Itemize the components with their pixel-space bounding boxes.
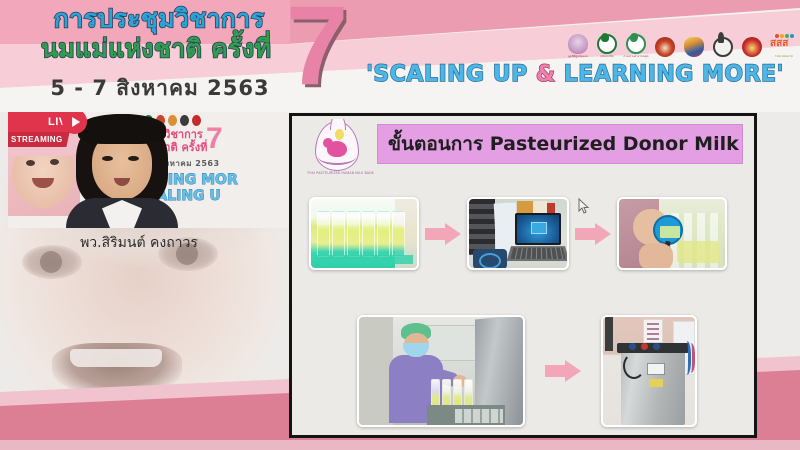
conference-title-line1: การประชุมวิชาการ xyxy=(24,4,294,34)
process-row-bottom xyxy=(357,315,751,427)
streaming-badge-text: STREAMING xyxy=(11,135,63,144)
milk-bank-logo-caption: THAI PASTEURIZED HUMAN MILK BANK xyxy=(307,171,367,175)
arrow-right-icon xyxy=(425,223,461,245)
thai-emblem-logo xyxy=(682,28,706,58)
photo-hand-thermometer xyxy=(617,197,727,270)
thaihealth-sss-logo: สสส THAI HEALTH xyxy=(769,28,799,58)
presentation-slide: THAI PASTEURIZED HUMAN MILK BANK ขั้นตอน… xyxy=(289,113,757,438)
mouse-pointer xyxy=(578,198,590,215)
university-seal-logo xyxy=(711,28,735,58)
royal-patronage-logo: มูลนิธิศูนย์นมแม่ xyxy=(566,28,590,58)
health-department-logo: กระทรวงสาธารณสุข xyxy=(624,28,648,58)
sss-text: สสส xyxy=(770,38,798,49)
human-milk-bank-logo: THAI PASTEURIZED HUMAN MILK BANK xyxy=(309,121,365,183)
tagline-ampersand: & xyxy=(536,62,556,87)
photo-laptop-data-logger xyxy=(467,197,569,270)
conference-date: 5 - 7 สิงหาคม 2563 xyxy=(40,72,280,105)
arrow-right-icon xyxy=(545,360,581,382)
edition-number: 7 xyxy=(286,0,348,102)
header-banner: การประชุมวิชาการ นมแม่แห่งชาติ ครั้งที่ … xyxy=(0,0,800,112)
red-seal-logo xyxy=(740,28,764,58)
slide-title-banner: ขั้นตอนการ Pasteurized Donor Milk xyxy=(377,124,743,164)
live-streaming-badge: LIVE STREAMING xyxy=(8,112,78,150)
process-row-top xyxy=(309,197,749,270)
tagline-suffix: LEARNING MORE' xyxy=(556,62,784,87)
photo-pasteurizer-machine xyxy=(601,315,697,427)
poster-edition-number: 7 xyxy=(206,124,223,154)
conference-tagline: 'SCALING UP & LEARNING MORE' xyxy=(360,62,790,87)
bottom-band-strip xyxy=(0,440,800,450)
tagline-prefix: 'SCALING UP xyxy=(366,62,536,87)
video-frame: การประชุมวิชาการ นมแม่แห่งชาติ ครั้งที่ … xyxy=(8,112,298,228)
arrow-right-icon xyxy=(575,223,611,245)
photo-milk-bottles-rack xyxy=(309,197,419,270)
conference-title-line2: นมแม่แห่งชาติ ครั้งที่ xyxy=(16,34,296,64)
speaker-name-label: พว.สิริมนต์ คงถาวร xyxy=(24,232,254,254)
sponsor-logo-strip: มูลนิธิศูนย์นมแม่ กรมอนามัย กระทรวงสาธาร… xyxy=(566,28,799,58)
slide-title-text: ขั้นตอนการ Pasteurized Donor Milk xyxy=(388,129,739,159)
live-video-panel[interactable]: การประชุมวิชาการ นมแม่แห่งชาติ ครั้งที่ … xyxy=(8,112,298,228)
royal-college-logo xyxy=(653,28,677,58)
ministry-public-health-logo: กรมอนามัย xyxy=(595,28,619,58)
slide-content: THAI PASTEURIZED HUMAN MILK BANK ขั้นตอน… xyxy=(295,119,751,432)
photo-nurse-loading-bottles xyxy=(357,315,525,427)
screen: การประชุมวิชาการ นมแม่แห่งชาติ ครั้งที่ … xyxy=(0,0,800,450)
